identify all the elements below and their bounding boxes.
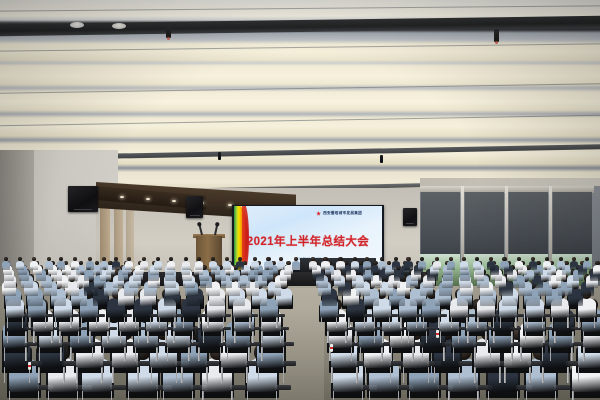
chair-leg <box>511 331 513 343</box>
chair-leg <box>499 367 501 383</box>
chair-leg <box>96 317 98 328</box>
audience-member <box>236 261 244 270</box>
chair-leg <box>474 367 476 383</box>
chair-leg <box>511 347 513 361</box>
chair-leg <box>111 391 113 400</box>
chair-leg <box>485 331 487 343</box>
audience-member-head <box>531 257 535 261</box>
chair-leg <box>252 331 254 343</box>
chair-leg <box>542 317 544 328</box>
chair-leg <box>391 347 393 361</box>
chair-leg <box>550 347 552 361</box>
audience-member <box>593 265 600 275</box>
chair-leg <box>583 331 585 343</box>
chair-leg <box>360 347 362 361</box>
chair-leg <box>39 347 41 361</box>
chair-leg <box>327 331 329 343</box>
audience-member <box>570 261 578 270</box>
chair-leg <box>422 347 424 361</box>
chair-leg <box>78 331 80 343</box>
chair-leg <box>261 331 263 343</box>
chair-leg <box>183 317 185 328</box>
audience-member-head <box>585 257 589 261</box>
audience-member <box>195 261 203 270</box>
chair-leg <box>174 317 176 328</box>
audience-member-head <box>449 257 453 261</box>
audience-member <box>433 261 441 270</box>
chair-leg <box>173 331 175 343</box>
chair-leg <box>258 367 260 383</box>
chair-writing-tablet <box>110 385 126 390</box>
chair-leg <box>529 367 531 383</box>
chair-leg <box>124 347 126 361</box>
audience-member-head <box>338 257 342 261</box>
chair-leg <box>572 331 574 343</box>
chair-leg <box>490 347 492 361</box>
chair-leg <box>517 391 519 400</box>
chair-leg <box>466 317 468 328</box>
audience-member <box>447 261 455 270</box>
chair-leg <box>77 391 79 400</box>
chair-leg <box>157 391 159 400</box>
slide-title: 2021年上半年总结大会 <box>234 233 382 249</box>
chair-leg <box>151 367 153 383</box>
chair-writing-tablet <box>554 385 570 390</box>
chair-leg <box>543 331 545 343</box>
chair-leg <box>567 367 569 383</box>
audience-member <box>583 261 591 270</box>
audience-member-head <box>536 261 541 266</box>
audience-member <box>292 261 300 270</box>
audience-member-head <box>323 257 327 261</box>
chair-leg <box>4 367 6 383</box>
audience-member <box>45 261 53 270</box>
audience-member-head <box>18 257 22 261</box>
chair-leg <box>493 331 495 343</box>
chair-leg <box>25 347 27 361</box>
chair-leg <box>520 347 522 361</box>
chair-leg <box>554 331 556 343</box>
chair-leg <box>443 347 445 361</box>
audience-member <box>125 261 133 270</box>
chair-leg <box>525 331 527 343</box>
audience-member <box>500 261 508 270</box>
chair-leg <box>192 391 194 400</box>
audience-member <box>336 261 344 270</box>
chair-leg <box>107 331 109 343</box>
audience-member <box>418 261 426 270</box>
audience-member-head <box>373 261 378 266</box>
audience-member <box>487 261 495 270</box>
chair-leg <box>33 331 35 343</box>
audience-member <box>140 261 148 270</box>
chair-leg <box>22 317 24 328</box>
chair-leg <box>25 331 27 343</box>
chair-leg <box>351 347 353 361</box>
chair-leg <box>356 367 358 383</box>
chair-leg <box>38 367 40 383</box>
audience-member <box>543 261 551 270</box>
chair-leg <box>578 317 580 328</box>
chair-leg <box>192 331 194 343</box>
audience-member <box>2 261 10 270</box>
chair-leg <box>220 347 222 361</box>
chair-leg <box>55 317 57 328</box>
track-spotlight-icon <box>166 25 171 38</box>
chair-leg <box>571 347 573 361</box>
chair-leg <box>567 317 569 328</box>
chair-leg <box>438 391 440 400</box>
audience-member <box>86 261 94 270</box>
chair-leg <box>428 367 430 383</box>
audience-member <box>404 261 412 270</box>
chair-leg <box>477 391 479 400</box>
chair-leg <box>542 347 544 361</box>
chair-leg <box>38 391 40 400</box>
audience-member-head <box>564 261 569 266</box>
track-spotlight-icon <box>218 152 221 160</box>
screen-logo: 西安雁塔城市发展集团 <box>316 211 362 216</box>
chair-leg <box>477 317 479 328</box>
chair-leg <box>198 347 200 361</box>
chair-leg <box>176 367 178 383</box>
audience-member <box>154 261 162 270</box>
audience-member <box>112 261 120 270</box>
chair-leg <box>165 331 167 343</box>
chair-leg <box>453 347 455 361</box>
chair-leg <box>400 317 402 328</box>
chair-leg <box>120 331 122 343</box>
downlight-icon <box>146 198 150 200</box>
audience-member <box>182 261 190 270</box>
audience-member-head <box>266 257 270 261</box>
chair-leg <box>374 331 376 343</box>
chair-leg <box>280 331 282 343</box>
chair-leg <box>493 317 495 328</box>
audience-member-head <box>394 257 398 261</box>
window-blind[interactable] <box>464 192 504 254</box>
chair-leg <box>29 317 31 328</box>
chair-leg <box>389 317 391 328</box>
chair-leg <box>364 317 366 328</box>
chair-leg <box>137 367 139 383</box>
audience-member <box>515 261 523 270</box>
audience-member <box>321 261 329 270</box>
chair-leg <box>70 317 72 328</box>
chair-leg <box>438 317 440 328</box>
chair-leg <box>101 367 103 383</box>
chair-leg <box>398 391 400 400</box>
chair-leg <box>527 317 529 328</box>
audience-member <box>100 261 108 270</box>
chair-leg <box>159 317 161 328</box>
audience-member <box>167 261 175 270</box>
chair-leg <box>321 317 323 328</box>
track-spotlight-icon <box>380 155 383 163</box>
chair-leg <box>7 317 9 328</box>
chair-leg <box>203 331 205 343</box>
chair-leg <box>246 367 248 383</box>
chair-leg <box>51 331 53 343</box>
chair-leg <box>206 367 208 383</box>
chair-leg <box>365 367 367 383</box>
chair-leg <box>207 317 209 328</box>
window-blind[interactable] <box>508 192 548 254</box>
company-logo-mark-icon <box>316 211 321 216</box>
chair-leg <box>348 317 350 328</box>
audience-member-head <box>253 257 257 261</box>
chair-leg <box>234 317 236 328</box>
chair-leg <box>249 317 251 328</box>
audience-member <box>392 261 400 270</box>
audience-member-head <box>211 257 215 261</box>
chair-leg <box>403 367 405 383</box>
chair-leg <box>234 331 236 343</box>
audience-member-head <box>559 257 563 261</box>
chair-leg <box>382 331 384 343</box>
audience-member <box>378 261 386 270</box>
audience-member <box>71 261 79 270</box>
audience-member <box>209 261 217 270</box>
audience-member <box>223 261 231 270</box>
chair-leg <box>583 347 585 361</box>
chair-leg <box>451 317 453 328</box>
chair-leg <box>467 331 469 343</box>
chair-leg <box>92 347 94 361</box>
chair-leg <box>552 317 554 328</box>
track-spotlight-icon <box>494 29 499 42</box>
chair-writing-tablet <box>205 361 219 365</box>
chair-leg <box>103 347 105 361</box>
chair-writing-tablet <box>62 361 76 365</box>
audience-member <box>16 261 24 270</box>
chair-leg <box>167 347 169 361</box>
water-bottle <box>330 344 333 352</box>
chair-leg <box>594 317 596 328</box>
audience-member-head <box>545 257 549 261</box>
chair-leg <box>331 367 333 383</box>
audience-member-head <box>502 257 506 261</box>
chair-leg <box>500 317 502 328</box>
audience-member-head <box>380 257 384 261</box>
chair-writing-tablet <box>230 385 246 390</box>
chair-leg <box>124 317 126 328</box>
wall-speaker-right <box>403 208 417 226</box>
chair-leg <box>408 331 410 343</box>
ceiling-lamp-icon <box>112 23 126 29</box>
chair-leg <box>345 331 347 343</box>
downlight-icon <box>120 196 124 198</box>
chair-leg <box>108 317 110 328</box>
chair-leg <box>515 317 517 328</box>
audience-member <box>473 261 481 270</box>
chair-leg <box>221 367 223 383</box>
chair-leg <box>276 317 278 328</box>
chair-leg <box>355 331 357 343</box>
wall-speaker-left <box>68 186 98 212</box>
conference-hall-photo: 西安雁塔城市发展集团 2021年上半年总结大会 2021年08月22日 <box>0 0 600 400</box>
chair-leg <box>276 391 278 400</box>
audience-member <box>264 261 272 270</box>
water-bottle <box>28 362 31 370</box>
chair-leg <box>227 347 229 361</box>
chair-leg <box>198 317 200 328</box>
chair-leg <box>578 367 580 383</box>
audience-member-head <box>114 257 118 261</box>
chair-leg <box>283 347 285 361</box>
chair-leg <box>81 317 83 328</box>
chair-writing-tablet <box>275 385 291 390</box>
chair-leg <box>412 347 414 361</box>
chair-leg <box>135 347 137 361</box>
chair-leg <box>390 367 392 383</box>
chair-leg <box>504 367 506 383</box>
audience-member <box>57 261 65 270</box>
audience-member-head <box>286 261 291 266</box>
chair-leg <box>45 317 47 328</box>
window-blind[interactable] <box>420 192 460 254</box>
chair-leg <box>374 317 376 328</box>
chair-leg <box>181 367 183 383</box>
chair-writing-tablet <box>136 361 150 365</box>
chair-leg <box>434 367 436 383</box>
chair-leg <box>60 347 62 361</box>
chair-leg <box>89 331 91 343</box>
audience-member <box>529 261 537 270</box>
chair-leg <box>188 347 190 361</box>
chair-leg <box>147 331 149 343</box>
company-logo-text: 西安雁塔城市发展集团 <box>323 211 362 216</box>
chair-leg <box>135 317 137 328</box>
chair-leg <box>7 331 9 343</box>
audience-member <box>309 261 317 270</box>
chair-leg <box>555 391 557 400</box>
audience-member <box>251 261 259 270</box>
audience-member <box>351 261 359 270</box>
chair-leg <box>423 317 425 328</box>
chair-leg <box>70 347 72 361</box>
chair-leg <box>261 347 263 361</box>
chair-leg <box>458 331 460 343</box>
audience-member <box>277 261 285 270</box>
chair-leg <box>542 367 544 383</box>
chair-leg <box>362 391 364 400</box>
chair-leg <box>261 317 263 328</box>
chair-leg <box>63 367 65 383</box>
chair-leg <box>76 367 78 383</box>
chair-leg <box>231 391 233 400</box>
chair-leg <box>138 331 140 343</box>
chair-leg <box>156 347 158 361</box>
audience-member-head <box>184 257 188 261</box>
chair-leg <box>221 331 223 343</box>
audience-member <box>557 261 565 270</box>
chair-leg <box>223 317 225 328</box>
chair-leg <box>474 347 476 361</box>
chair-leg <box>4 347 6 361</box>
chair-leg <box>112 367 114 383</box>
audience-member-head <box>406 257 410 261</box>
chair-leg <box>336 317 338 328</box>
chair-leg <box>150 317 152 328</box>
downlight-icon <box>172 200 176 202</box>
chair-leg <box>283 367 285 383</box>
chair-leg <box>416 317 418 328</box>
ceiling-speaker-center <box>186 196 203 218</box>
ceiling-lamp-icon <box>70 22 84 28</box>
chair-leg <box>426 331 428 343</box>
chair-leg <box>248 347 250 361</box>
chair-leg <box>59 331 61 343</box>
chair-leg <box>381 347 383 361</box>
window-blind[interactable] <box>552 192 592 254</box>
chair-leg <box>459 367 461 383</box>
audience-member <box>30 261 38 270</box>
chair-leg <box>440 331 442 343</box>
audience-member-head <box>435 257 439 261</box>
chair-leg <box>401 331 403 343</box>
audience-member <box>460 261 468 270</box>
audience-member <box>363 261 371 270</box>
water-bottle <box>436 330 439 338</box>
